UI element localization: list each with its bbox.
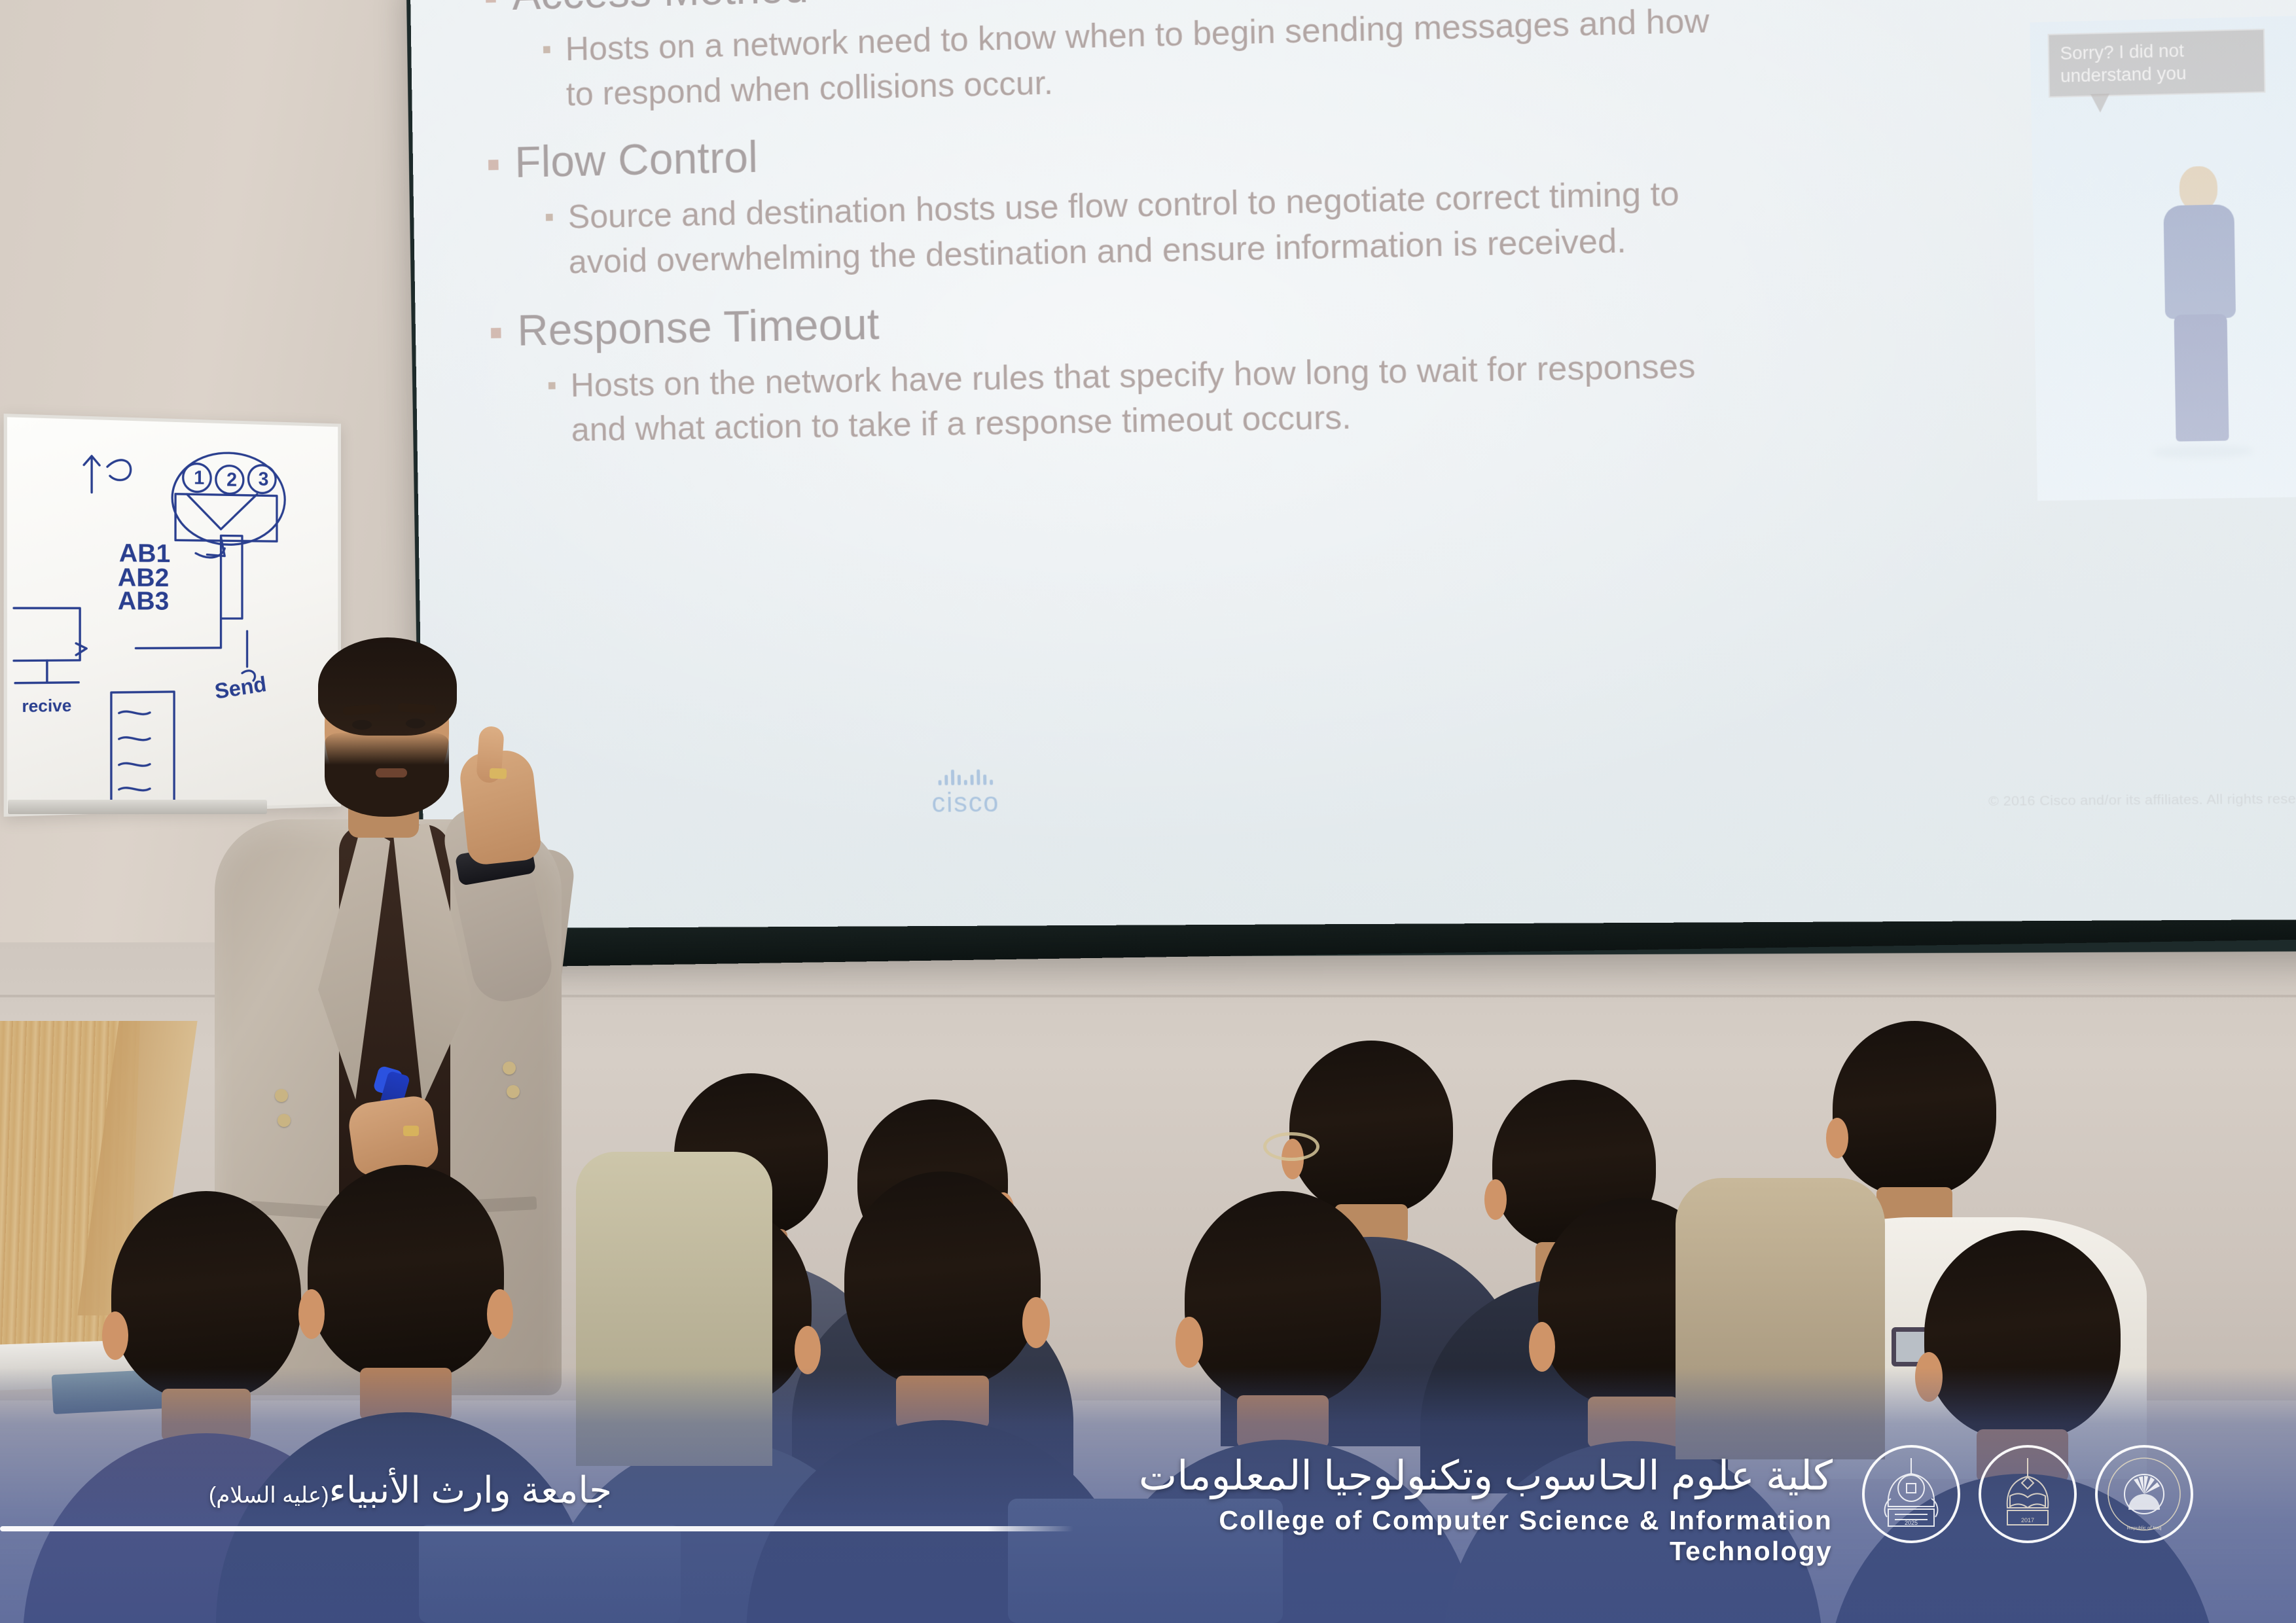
student-head (308, 1165, 504, 1381)
cisco-logo: cisco (888, 765, 1043, 819)
projector-screen: Access Method Hosts on a network need to… (410, 0, 2296, 929)
bullet-square-icon (486, 0, 496, 3)
ear (795, 1326, 821, 1374)
slide-content: Access Method Hosts on a network need to… (448, 0, 2296, 895)
svg-text:2025: 2025 (1905, 1520, 1918, 1526)
svg-text:2: 2 (226, 469, 237, 491)
student-head (1185, 1191, 1381, 1407)
sub-bullet-square-icon (543, 46, 550, 53)
presenter-ring-upper (490, 768, 507, 779)
student-head (1833, 1021, 1996, 1196)
body-text: Hosts on the network have rules that spe… (570, 343, 1735, 453)
cisco-bars-icon (888, 765, 1043, 786)
ear (298, 1289, 325, 1339)
bullet-square-icon (491, 328, 501, 338)
slide-body-flow-control: Source and destination hosts use flow co… (546, 171, 1732, 286)
college-seal-logo: 2025 (1862, 1445, 1960, 1543)
body-text: Hosts on a network need to know when to … (565, 0, 1729, 117)
ear (1826, 1118, 1848, 1158)
slide-body-response-timeout: Hosts on the network have rules that spe… (548, 343, 1734, 454)
heading-text: Access Method (512, 0, 809, 20)
cisco-wordmark: cisco (888, 787, 1043, 819)
head-silhouette (844, 1171, 1041, 1387)
student-beige-jacket (576, 1152, 772, 1466)
student-head (111, 1191, 301, 1400)
presenter-mouth (376, 768, 407, 777)
heading-text: Response Timeout (517, 298, 880, 355)
ear (487, 1289, 513, 1339)
svg-text:2017: 2017 (2021, 1517, 2034, 1524)
svg-text:1: 1 (194, 467, 204, 489)
student-head (844, 1171, 1041, 1387)
ear (102, 1311, 128, 1360)
ministry-seal-logo: Republic of Iraq (2095, 1445, 2193, 1543)
head-silhouette (308, 1165, 504, 1381)
heading-text: Flow Control (514, 132, 759, 188)
ear (1022, 1297, 1050, 1348)
university-name-arabic: جامعة وارث الأنبياء(عليه السلام) (36, 1469, 612, 1512)
head-silhouette (1185, 1191, 1381, 1407)
head-silhouette (1833, 1021, 1996, 1196)
footer-divider-rule (0, 1526, 1073, 1531)
presenter-eye-left (352, 720, 372, 730)
footer-logos: 2025 2017 (1862, 1445, 2193, 1543)
eyeglasses-icon (1263, 1132, 1319, 1161)
head-silhouette (1289, 1041, 1453, 1215)
illustration-washout (2030, 9, 2296, 501)
svg-text:recive: recive (22, 697, 71, 716)
svg-text:AB3: AB3 (118, 586, 170, 615)
student-tan-jacket (1676, 1178, 1885, 1459)
body-text: Source and destination hosts use flow co… (567, 171, 1732, 285)
head-silhouette (111, 1191, 301, 1400)
ministry-seal-icon: Republic of Iraq (2104, 1454, 2185, 1535)
university-name-text: جامعة وارث الأنبياء (329, 1469, 612, 1510)
slide-body-access-method: Hosts on a network need to know when to … (543, 0, 1730, 118)
slide-heading-response-timeout: Response Timeout (490, 272, 2296, 356)
presenter-hair (318, 637, 457, 736)
svg-text:Republic of Iraq: Republic of Iraq (2127, 1525, 2162, 1531)
sub-bullet-square-icon (548, 382, 556, 389)
college-name-arabic: كلية علوم الحاسوب وتكنولوجيا المعلومات (1126, 1452, 1833, 1499)
presenter-eye-right (406, 719, 425, 728)
university-seal-icon: 2017 (1988, 1454, 2068, 1534)
student-head-with-glasses (1289, 1041, 1453, 1215)
university-seal-logo: 2017 (1979, 1445, 2077, 1543)
college-seal-icon: 2025 (1871, 1454, 1951, 1534)
college-name-english: College of Computer Science & Informatio… (1113, 1505, 1833, 1567)
screenshot-root: 123 AB1 AB2 AB3 recive Send Access Metho… (0, 0, 2296, 1623)
head-silhouette (1924, 1230, 2121, 1440)
university-name-suffix: (عليه السلام) (209, 1483, 329, 1508)
sub-bullet-square-icon (546, 214, 553, 221)
svg-text:3: 3 (259, 469, 269, 490)
ear (1175, 1317, 1203, 1368)
ear (1915, 1352, 1943, 1402)
ear (1529, 1322, 1555, 1372)
bullet-square-icon (488, 160, 499, 170)
neck (1588, 1397, 1678, 1448)
ear (1484, 1179, 1507, 1220)
lecture-chair (419, 1525, 681, 1623)
student-head (1924, 1230, 2121, 1440)
slide-illustration: Sorry? I did not understand you Sorry? I… (2030, 9, 2296, 501)
